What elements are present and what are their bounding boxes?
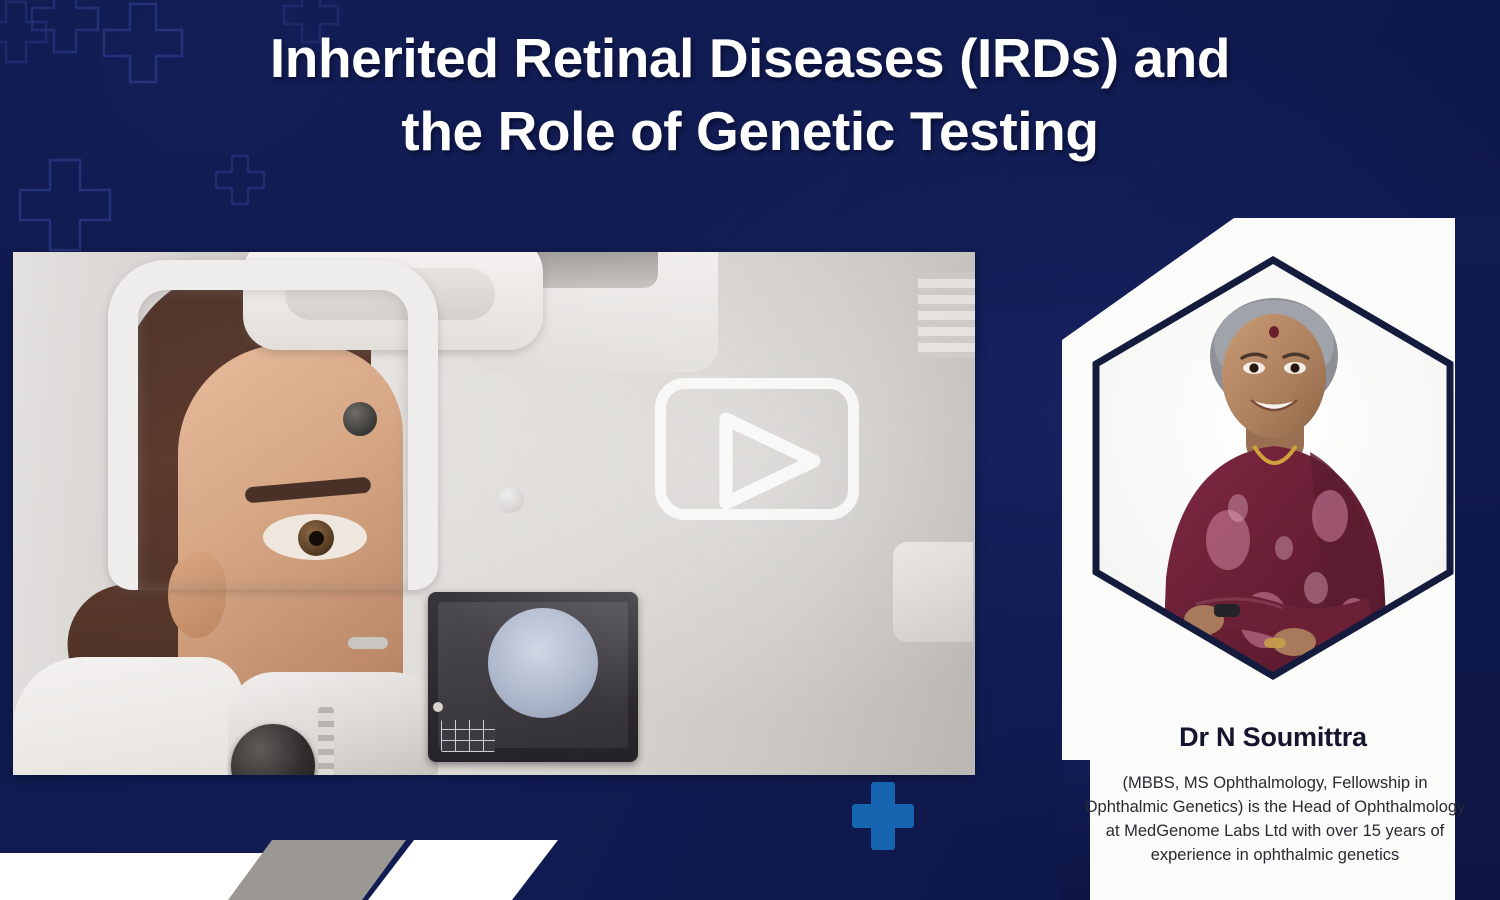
portrait-image [1078,248,1468,688]
speaker-portrait-hexagon [1078,248,1468,688]
plus-icon-bottom [852,782,914,850]
play-button[interactable] [655,378,859,520]
slide-title: Inherited Retinal Diseases (IRDs) and th… [0,22,1500,167]
speaker-name: Dr N Soumittra [1090,722,1456,753]
speaker-bio: (MBBS, MS Ophthalmology, Fellowship in O… [1080,772,1470,868]
title-line-2: the Role of Genetic Testing [90,95,1410,168]
presentation-slide: Inherited Retinal Diseases (IRDs) and th… [0,0,1500,900]
title-line-1: Inherited Retinal Diseases (IRDs) and [270,27,1230,89]
